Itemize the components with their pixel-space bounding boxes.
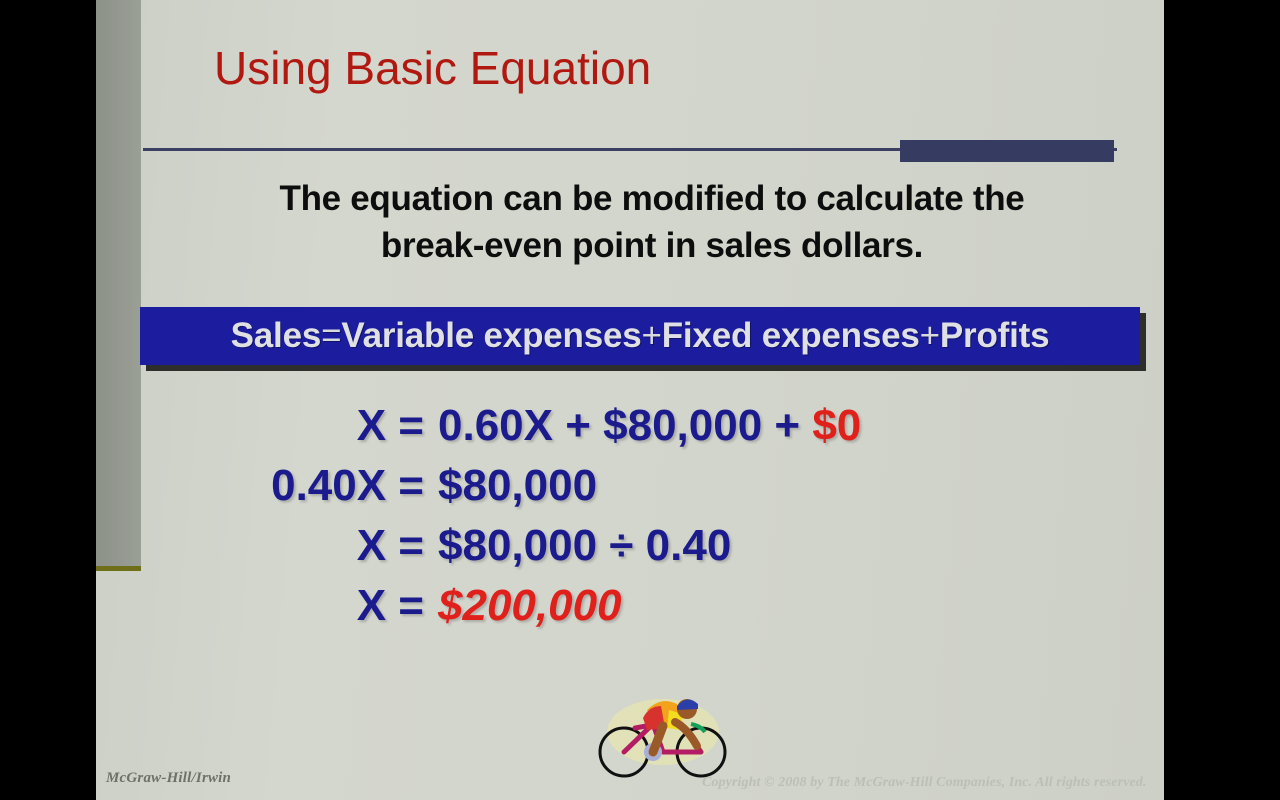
formula-term-profits: Profits — [940, 316, 1049, 355]
footer-copyright-notice: Copyright © 2008 by The McGraw-Hill Comp… — [702, 775, 1147, 791]
equation-4-answer: $200,000 — [438, 584, 622, 628]
equation-row: X = $200,000 — [156, 584, 1116, 628]
slide-subheading: The equation can be modified to calculat… — [152, 176, 1152, 269]
equation-1-rhs: 0.60X + $80,000 + $0 — [438, 404, 861, 448]
equation-1-rhs-accent: $0 — [812, 401, 861, 450]
formula-term-sales: Sales — [231, 316, 321, 355]
equation-1-lhs: X = — [156, 404, 438, 448]
subheading-line-1: The equation can be modified to calculat… — [152, 176, 1152, 223]
cyclist-clipart-icon — [591, 684, 741, 784]
footer-publisher-label: McGraw-Hill/Irwin — [106, 770, 231, 787]
equation-4-lhs: X = — [156, 584, 438, 628]
formula-plus-sign-1: + — [642, 316, 662, 355]
equation-3-lhs: X = — [156, 524, 438, 568]
formula-equals-sign: = — [321, 316, 341, 355]
equation-block: X = 0.60X + $80,000 + $0 0.40X = $80,000… — [156, 404, 1116, 644]
presentation-slide: Using Basic Equation The equation can be… — [96, 0, 1164, 800]
slide-left-band-rule — [96, 566, 141, 571]
equation-1-rhs-main: 0.60X + $80,000 + — [438, 401, 812, 450]
equation-row: 0.40X = $80,000 — [156, 464, 1116, 508]
screen-letterbox: Using Basic Equation The equation can be… — [0, 0, 1280, 800]
slide-title: Using Basic Equation — [214, 44, 1114, 92]
formula-banner: Sales=Variable expenses+Fixed expenses+P… — [140, 307, 1140, 365]
slide-left-decorative-band — [96, 0, 141, 566]
equation-row: X = 0.60X + $80,000 + $0 — [156, 404, 1116, 448]
equation-2-rhs: $80,000 — [438, 464, 597, 508]
equation-row: X = $80,000 ÷ 0.40 — [156, 524, 1116, 568]
slide-header-accent-block — [900, 140, 1114, 162]
formula-term-fixed-expenses: Fixed expenses — [662, 316, 920, 355]
formula-term-variable-expenses: Variable expenses — [341, 316, 641, 355]
equation-3-rhs: $80,000 ÷ 0.40 — [438, 524, 731, 568]
formula-plus-sign-2: + — [920, 316, 940, 355]
formula-banner-text: Sales=Variable expenses+Fixed expenses+P… — [231, 316, 1050, 356]
subheading-line-2: break-even point in sales dollars. — [152, 223, 1152, 270]
equation-2-lhs: 0.40X = — [156, 464, 438, 508]
